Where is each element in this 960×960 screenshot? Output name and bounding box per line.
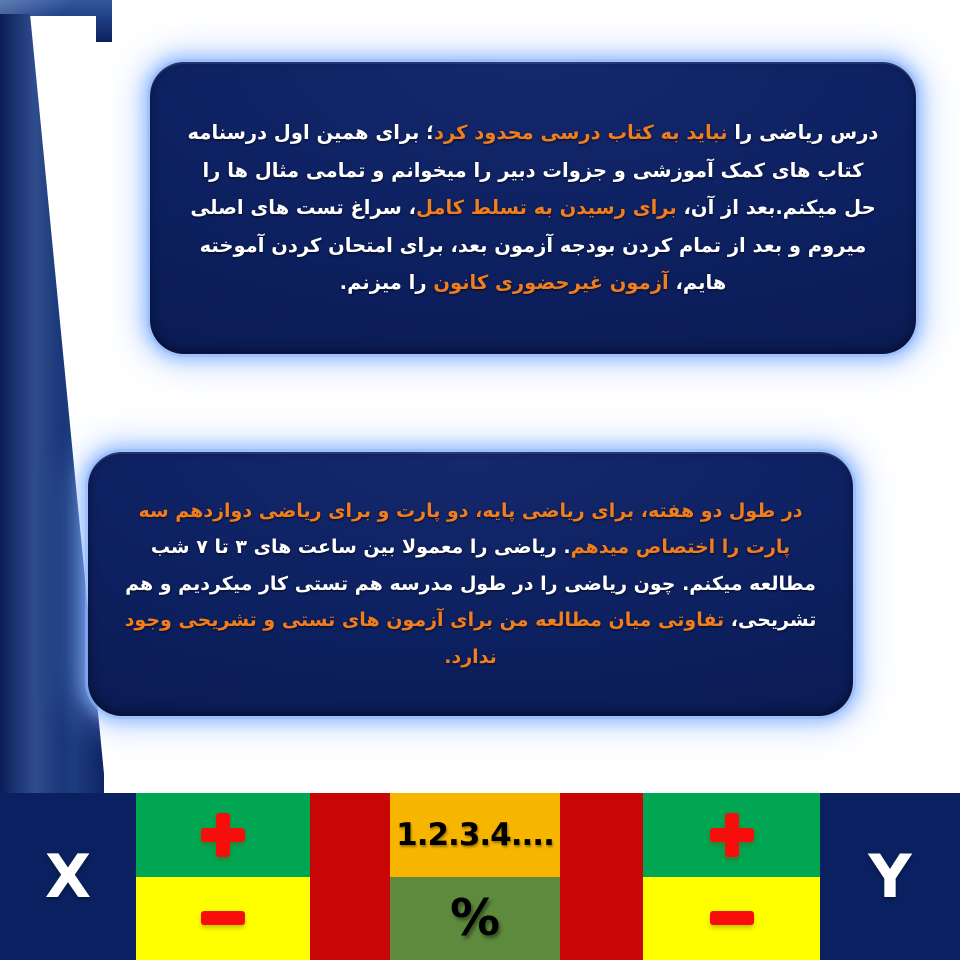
percent-button[interactable]: % [390,877,560,960]
plus-icon [710,813,754,857]
plain-text-run: را میزنم. [340,271,434,294]
keypad-group-left [136,793,310,960]
accent-text-run: تفاوتی میان مطالعه من برای آزمون های تست… [125,609,724,667]
infographic-canvas: درس ریاضی را نباید به کتاب درسی محدود کر… [0,0,960,960]
separator-red-left [310,793,390,960]
percent-label: % [450,893,500,943]
keypad-group-center: 1.2.3.4.... % [390,793,560,960]
left-plus-button[interactable] [136,793,310,877]
number-button[interactable]: 1.2.3.4.... [390,793,560,877]
bottom-keypad-bar: X 1.2.3.4.... % [0,793,960,960]
panel-2-text: در طول دو هفته، برای ریاضی پایه، دو پارت… [120,493,821,675]
x-label: X [45,847,91,907]
minus-icon [201,911,245,925]
right-plus-button[interactable] [643,793,820,877]
accent-text-run: برای رسیدن به تسلط کامل [416,196,677,219]
minus-icon [710,911,754,925]
keypad-label-y: Y [820,793,960,960]
number-label: 1.2.3.4.... [396,817,554,853]
keypad-label-x: X [0,793,136,960]
left-minus-button[interactable] [136,877,310,960]
accent-text-run: آزمون غیرحضوری کانون [433,271,668,294]
plain-text-run: درس ریاضی را [728,121,879,144]
plus-icon [201,813,245,857]
keypad-group-right [643,793,820,960]
content-panel-2: در طول دو هفته، برای ریاضی پایه، دو پارت… [88,452,853,716]
y-label: Y [868,847,911,907]
content-panel-1: درس ریاضی را نباید به کتاب درسی محدود کر… [150,62,916,354]
right-minus-button[interactable] [643,877,820,960]
panel-1-text: درس ریاضی را نباید به کتاب درسی محدود کر… [184,114,882,301]
accent-text-run: نباید به کتاب درسی محدود کرد [434,121,728,144]
separator-red-right [560,793,643,960]
